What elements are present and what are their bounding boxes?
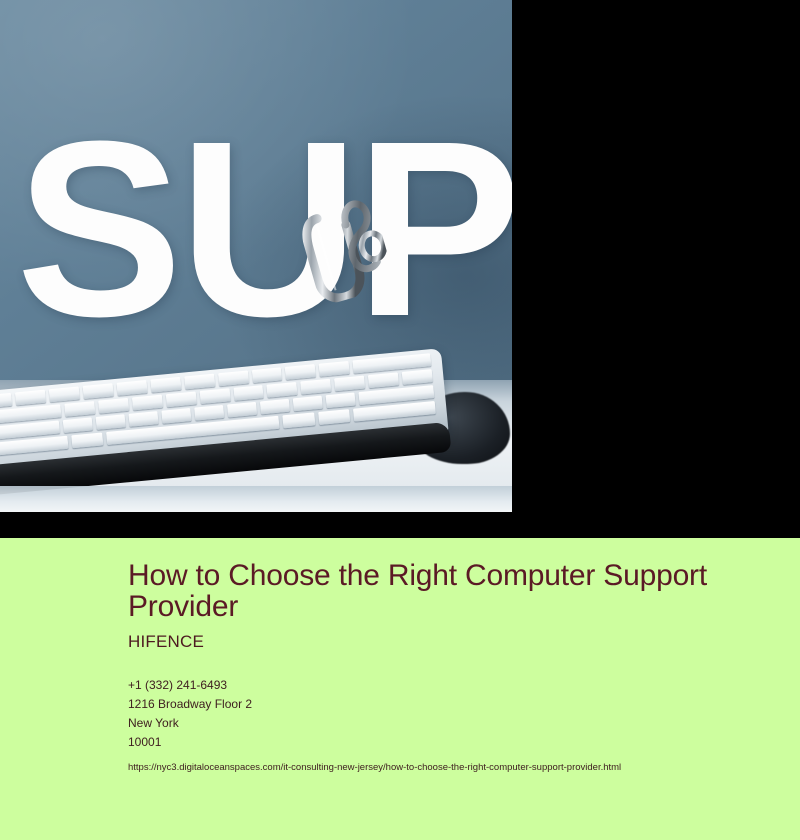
info-card: How to Choose the Right Computer Support… <box>0 538 800 840</box>
contact-city: New York <box>128 714 780 733</box>
brand-name: HIFENCE <box>128 632 780 652</box>
info-content: How to Choose the Right Computer Support… <box>128 560 780 774</box>
desk-reflection <box>0 486 512 512</box>
hero-band: SUP <box>0 0 800 538</box>
page-title: How to Choose the Right Computer Support… <box>128 560 773 622</box>
page-root: SUP <box>0 0 800 840</box>
contact-street: 1216 Broadway Floor 2 <box>128 695 780 714</box>
desk-surface <box>0 380 512 512</box>
hero-photo: SUP <box>0 0 512 512</box>
contact-phone: +1 (332) 241-6493 <box>128 676 780 695</box>
contact-postal-code: 10001 <box>128 733 780 752</box>
source-url[interactable]: https://nyc3.digitaloceanspaces.com/it-c… <box>128 761 780 774</box>
wall-word-text: SUP <box>16 104 512 354</box>
contact-block: +1 (332) 241-6493 1216 Broadway Floor 2 … <box>128 676 780 752</box>
